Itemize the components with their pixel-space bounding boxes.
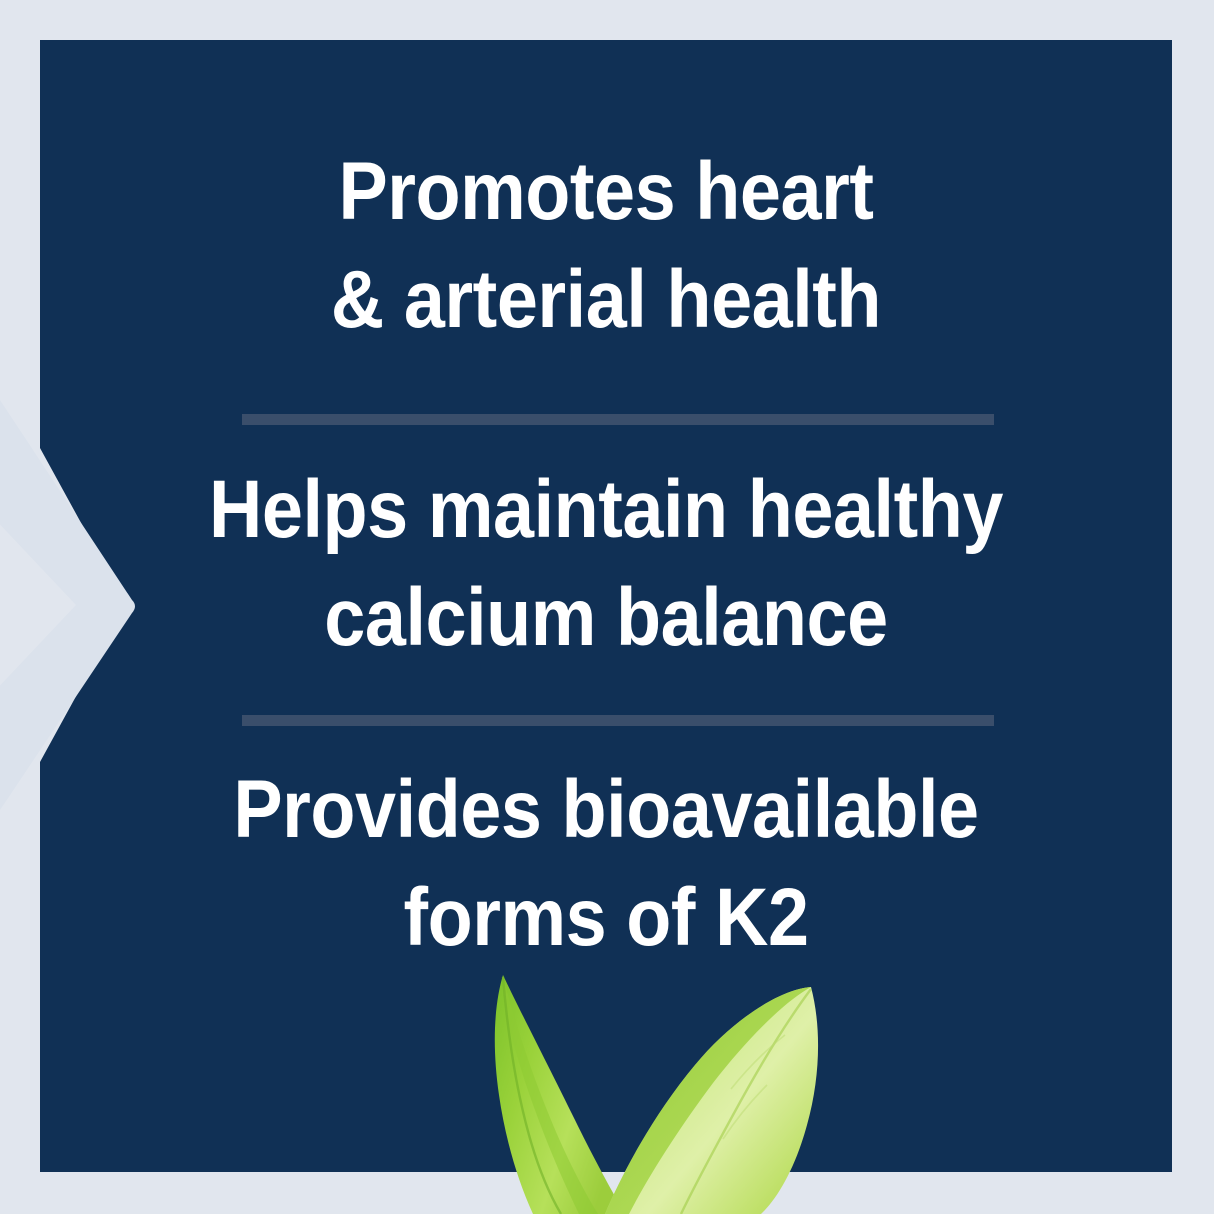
benefit-item-bioavailable-k2: Provides bioavailable forms of K2: [97, 756, 1116, 972]
benefits-card: Promotes heart & arterial health Helps m…: [0, 0, 1214, 1214]
benefit-line: Helps maintain healthy: [97, 456, 1116, 564]
benefit-divider: [242, 715, 994, 726]
benefit-line: forms of K2: [97, 864, 1116, 972]
benefits-content: Promotes heart & arterial health Helps m…: [40, 40, 1172, 1172]
benefit-line: calcium balance: [97, 564, 1116, 672]
benefit-item-calcium-balance: Helps maintain healthy calcium balance: [97, 456, 1116, 672]
benefit-item-heart-arterial-health: Promotes heart & arterial health: [97, 138, 1116, 354]
benefit-line: & arterial health: [97, 246, 1116, 354]
benefit-line: Provides bioavailable: [97, 756, 1116, 864]
benefit-line: Promotes heart: [97, 138, 1116, 246]
benefit-divider: [242, 414, 994, 425]
